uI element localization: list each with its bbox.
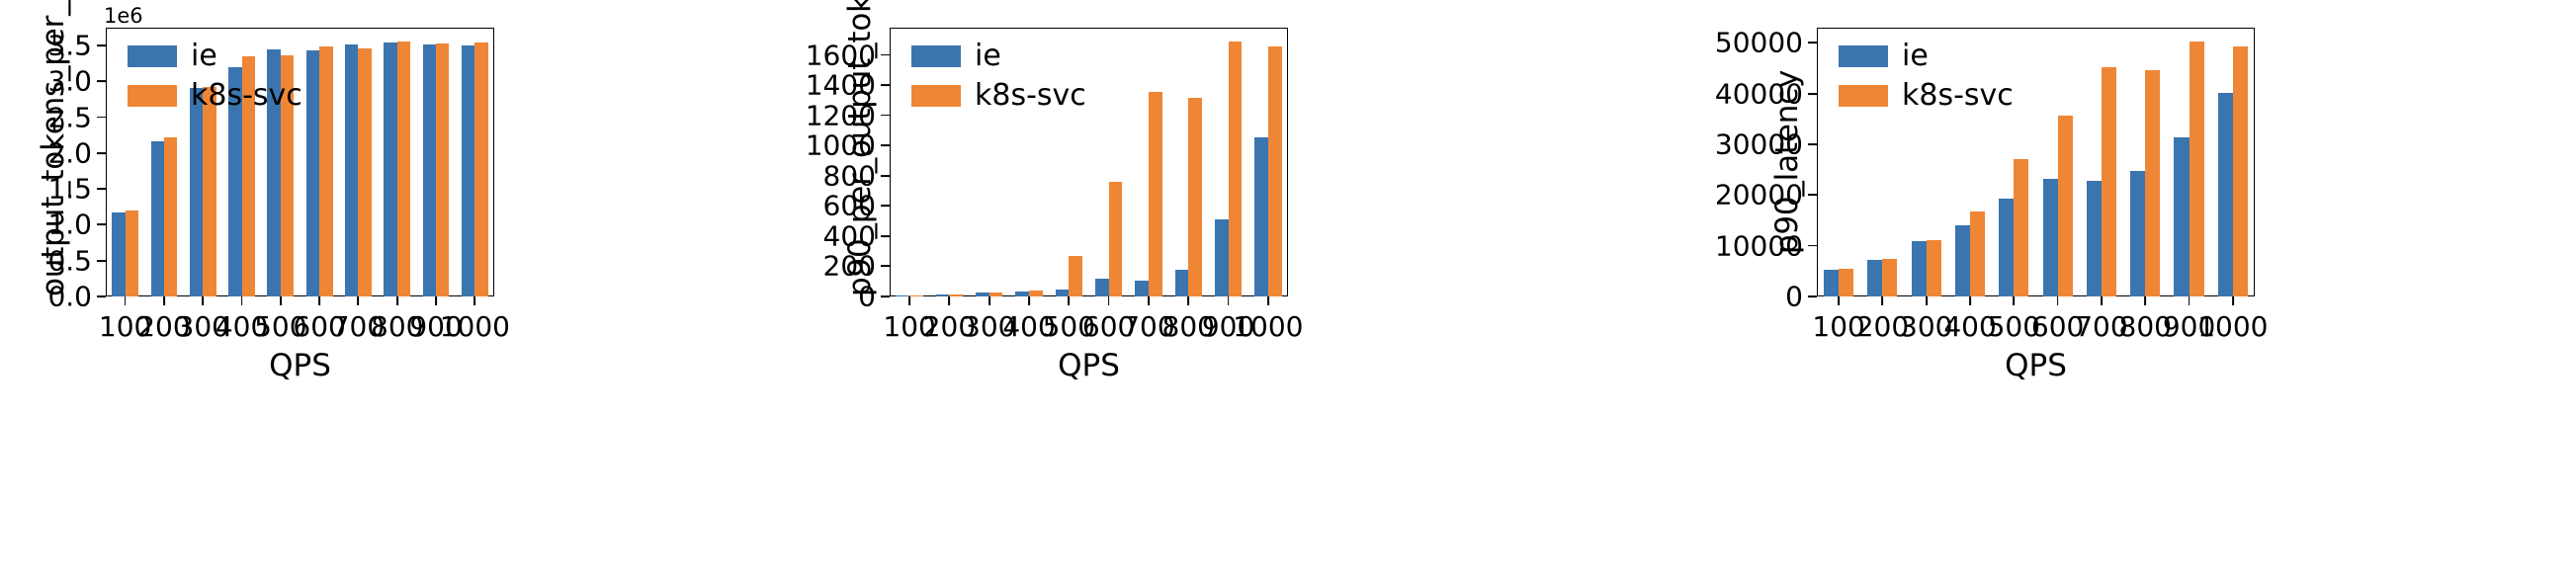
x-tick-mark	[2189, 296, 2190, 305]
figure-canvas: 0.00.51.01.52.02.53.03.51e61002003004005…	[0, 0, 2576, 585]
y-tick-mark	[1808, 93, 1817, 95]
bar-k8s-svc-500	[2014, 159, 2028, 296]
legend-entry-k8s-svc: k8s-svc	[1839, 81, 2014, 111]
bar-k8s-svc-700	[2102, 67, 2116, 296]
y-axis-label-3: p90_latency	[1769, 28, 1805, 296]
bar-k8s-svc-1000	[2233, 46, 2248, 296]
bar-k8s-svc-900	[2190, 42, 2204, 296]
legend-3: iek8s-svc	[1839, 42, 2014, 111]
bar-ie-200	[1867, 260, 1882, 296]
x-tick-mark	[2057, 296, 2059, 305]
legend-label-k8s-svc: k8s-svc	[1902, 81, 2014, 111]
y-tick-mark	[1808, 143, 1817, 145]
y-tick-mark	[1808, 245, 1817, 247]
x-tick-mark	[2013, 296, 2015, 305]
y-tick-mark	[1808, 194, 1817, 196]
y-tick-mark	[1808, 42, 1817, 43]
x-tick-mark	[1969, 296, 1971, 305]
bar-ie-300	[1912, 241, 1927, 296]
bar-ie-1000	[2218, 93, 2233, 296]
x-tick-mark	[2101, 296, 2103, 305]
chart-panel-3: 0100002000030000400005000010020030040050…	[0, 0, 2576, 585]
bar-k8s-svc-300	[1927, 240, 1941, 296]
x-axis-label-3: QPS	[1817, 348, 2255, 383]
legend-swatch-k8s-svc	[1839, 85, 1888, 107]
bar-ie-100	[1824, 270, 1839, 296]
bar-k8s-svc-400	[1970, 211, 1985, 296]
bar-k8s-svc-600	[2058, 116, 2073, 296]
bar-ie-400	[1955, 225, 1970, 296]
bar-ie-900	[2174, 137, 2189, 296]
bar-ie-700	[2087, 181, 2102, 296]
bar-ie-500	[1999, 199, 2014, 296]
bar-k8s-svc-800	[2145, 70, 2160, 296]
x-tick-mark	[2232, 296, 2234, 305]
x-tick-mark	[2144, 296, 2146, 305]
bar-ie-600	[2043, 179, 2058, 296]
x-tick-label: 1000	[2197, 310, 2268, 343]
legend-swatch-ie	[1839, 45, 1888, 67]
x-tick-mark	[1926, 296, 1928, 305]
bar-ie-800	[2130, 171, 2145, 296]
bar-k8s-svc-100	[1839, 269, 1853, 296]
y-tick-mark	[1808, 295, 1817, 297]
legend-label-ie: ie	[1902, 42, 1929, 71]
bar-k8s-svc-200	[1882, 259, 1897, 296]
x-tick-mark	[1838, 296, 1840, 305]
x-tick-mark	[1882, 296, 1884, 305]
legend-entry-ie: ie	[1839, 42, 2014, 71]
